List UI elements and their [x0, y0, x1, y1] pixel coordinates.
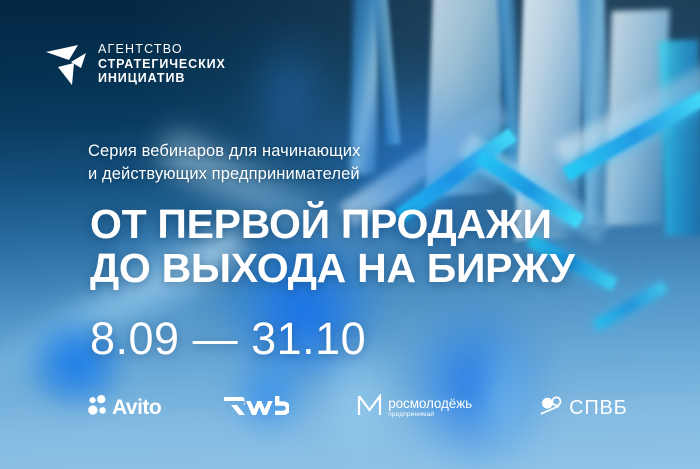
headline-line-2: ДО ВЫХОДА НА БИРЖУ — [90, 247, 575, 291]
partner-logo-rosmolodezh: росмолодёжь предпринимай — [357, 394, 472, 422]
subtitle-line-1: Серия вебинаров для начинающих — [88, 140, 360, 163]
partner-logo-rwb — [223, 396, 289, 421]
partner-logos: Avito росмолодёжь — [0, 388, 700, 428]
rwb-wordmark-icon — [223, 396, 289, 421]
rosmolodezh-name: росмолодёжь — [388, 397, 472, 411]
asi-logo-line1: АГЕНТСТВО — [98, 42, 226, 57]
spvb-wordmark: СПВБ — [569, 397, 627, 420]
banner-headline: ОТ ПЕРВОЙ ПРОДАЖИ ДО ВЫХОДА НА БИРЖУ — [90, 203, 575, 291]
avito-wordmark: Avito — [112, 396, 161, 420]
partner-logo-spvb: СПВБ — [540, 395, 627, 422]
rosmolodezh-m-icon — [357, 394, 382, 422]
headline-line-1: ОТ ПЕРВОЙ ПРОДАЖИ — [90, 203, 575, 247]
banner-dates: 8.09 — 31.10 — [90, 313, 366, 365]
webinar-promo-banner: АГЕНТСТВО СТРАТЕГИЧЕСКИХ ИНИЦИАТИВ Серия… — [0, 0, 700, 469]
banner-content: АГЕНТСТВО СТРАТЕГИЧЕСКИХ ИНИЦИАТИВ Серия… — [0, 0, 700, 469]
asi-logo-line2: СТРАТЕГИЧЕСКИХ — [98, 57, 226, 72]
rosmolodezh-program: предпринимай — [388, 412, 472, 419]
asi-logo-text: АГЕНТСТВО СТРАТЕГИЧЕСКИХ ИНИЦИАТИВ — [98, 42, 226, 86]
banner-subtitle: Серия вебинаров для начинающих и действу… — [88, 140, 360, 187]
spvb-circles-icon — [540, 395, 564, 422]
rosmolodezh-wordmark: росмолодёжь предпринимай — [388, 397, 472, 418]
partner-logo-avito: Avito — [88, 395, 161, 421]
subtitle-line-2: и действующих предпринимателей — [88, 163, 360, 186]
asi-arrow-logo-icon — [45, 41, 89, 87]
asi-logo: АГЕНТСТВО СТРАТЕГИЧЕСКИХ ИНИЦИАТИВ — [45, 41, 226, 87]
asi-logo-line3: ИНИЦИАТИВ — [98, 71, 226, 86]
avito-dots-icon — [88, 395, 110, 421]
